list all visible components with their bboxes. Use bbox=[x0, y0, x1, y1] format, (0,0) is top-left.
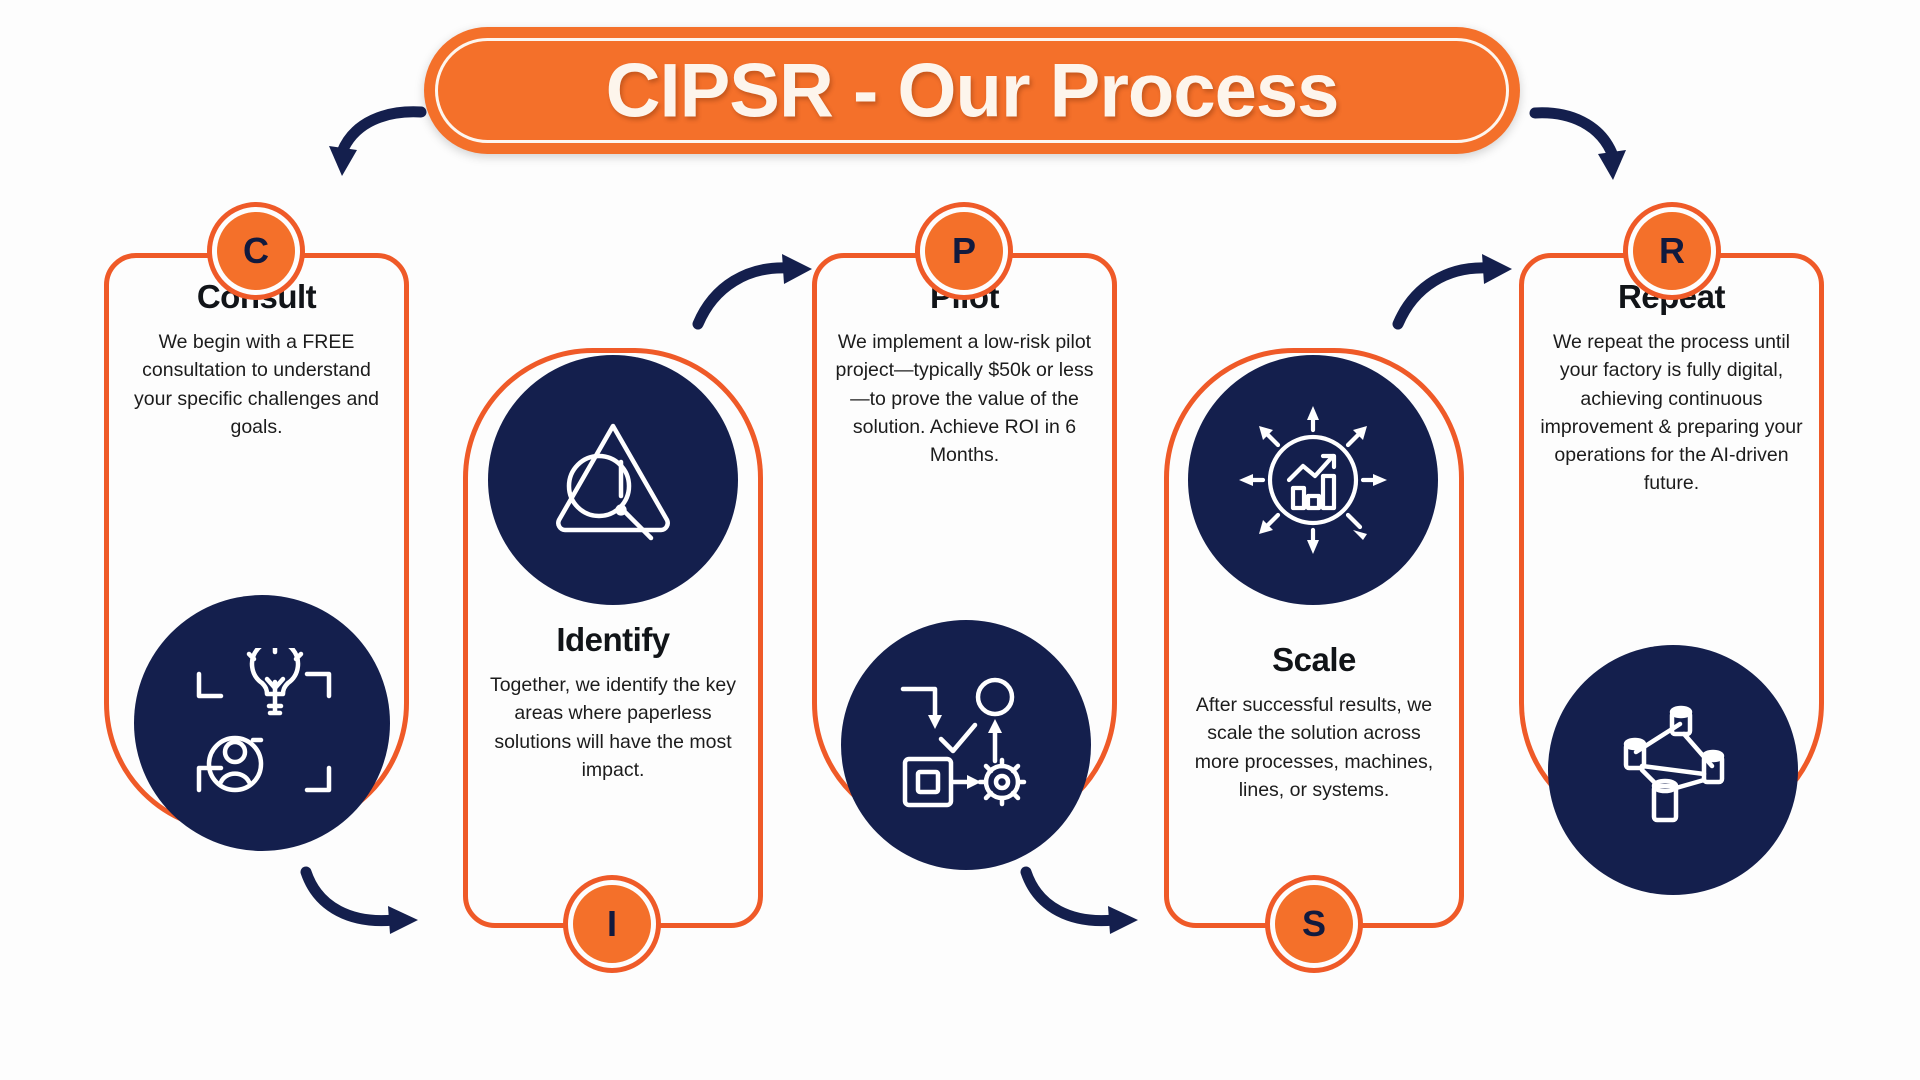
card-description-pilot: We implement a low-risk pilot project—ty… bbox=[831, 328, 1098, 469]
step-badge-p[interactable]: P bbox=[920, 207, 1008, 295]
workflow-gear-icon bbox=[841, 620, 1091, 870]
card-description-identify: Together, we identify the key areas wher… bbox=[482, 671, 744, 784]
step-badge-letter-r: R bbox=[1659, 230, 1685, 272]
arrow-consult-to-identify bbox=[300, 862, 430, 942]
card-title-scale: Scale bbox=[1183, 641, 1445, 679]
step-badge-letter-c: C bbox=[243, 230, 269, 272]
network-nodes-bars-icon bbox=[1548, 645, 1798, 895]
arrow-repeat-to-title bbox=[1525, 104, 1640, 194]
lightbulb-person-icon bbox=[134, 595, 390, 851]
step-badge-letter-i: I bbox=[607, 903, 617, 945]
arrow-pilot-to-scale bbox=[1020, 862, 1150, 942]
infographic-canvas: CIPSR - Our Process bbox=[0, 0, 1920, 1080]
step-badge-c[interactable]: C bbox=[212, 207, 300, 295]
card-title-identify: Identify bbox=[482, 621, 744, 659]
card-description-consult: We begin with a FREE consultation to und… bbox=[123, 328, 390, 441]
page-title: CIPSR - Our Process bbox=[424, 47, 1520, 134]
step-badge-s[interactable]: S bbox=[1270, 880, 1358, 968]
title-banner: CIPSR - Our Process bbox=[424, 27, 1520, 154]
step-badge-i[interactable]: I bbox=[568, 880, 656, 968]
arrow-identify-to-pilot bbox=[690, 252, 820, 337]
step-badge-letter-s: S bbox=[1302, 903, 1326, 945]
step-badge-letter-p: P bbox=[952, 230, 976, 272]
card-description-repeat: We repeat the process until your factory… bbox=[1538, 328, 1805, 498]
arrow-title-to-consult bbox=[316, 104, 426, 194]
step-badge-r[interactable]: R bbox=[1628, 207, 1716, 295]
arrow-scale-to-repeat bbox=[1390, 252, 1520, 337]
growth-chart-expand-icon bbox=[1188, 355, 1438, 605]
magnifier-warning-icon bbox=[488, 355, 738, 605]
card-description-scale: After successful results, we scale the s… bbox=[1183, 691, 1445, 804]
